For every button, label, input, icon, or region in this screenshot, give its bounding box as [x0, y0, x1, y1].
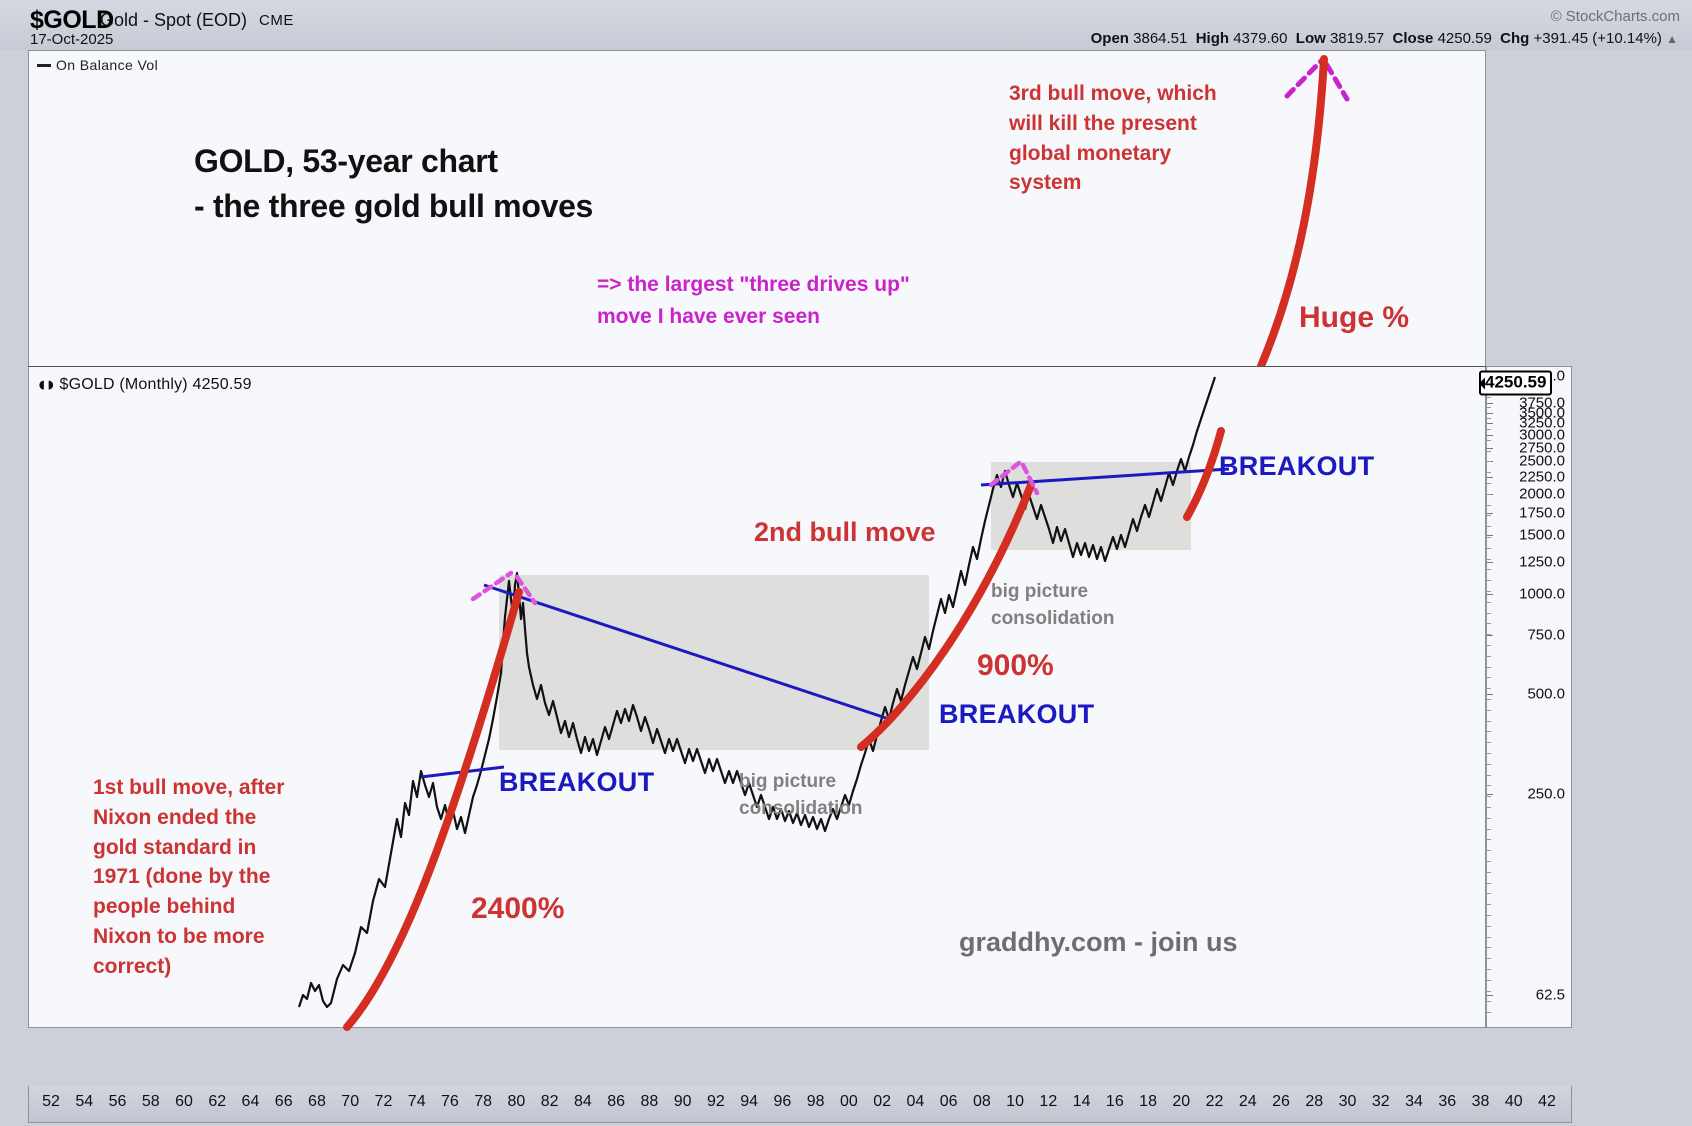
quote-date: 17-Oct-2025 — [30, 31, 113, 48]
y-axis-minor-tick — [1487, 494, 1491, 495]
x-axis-tick-label: 10 — [1006, 1093, 1024, 1111]
x-axis-tick-label: 06 — [940, 1093, 958, 1111]
x-axis-tick-label: 16 — [1106, 1093, 1124, 1111]
x-axis-tick-label: 80 — [508, 1093, 526, 1111]
y-axis-minor-tick — [1487, 613, 1491, 614]
x-axis-tick-label: 58 — [142, 1093, 160, 1111]
y-axis-minor-tick — [1487, 785, 1491, 786]
low-label: Low — [1296, 30, 1326, 47]
y-axis-minor-tick — [1487, 807, 1491, 808]
y-axis-tick-label: 1250.0 — [1519, 553, 1565, 570]
x-axis-tick-label: 86 — [607, 1093, 625, 1111]
y-axis-tick-mark — [1487, 435, 1493, 436]
y-axis-tick-mark — [1487, 423, 1493, 424]
x-axis-tick-label: 40 — [1505, 1093, 1523, 1111]
y-axis-minor-tick — [1487, 634, 1491, 635]
price-y-axis: 4250.59 4500.03750.03500.03250.03000.027… — [1486, 366, 1572, 1028]
y-axis-tick-mark — [1487, 448, 1493, 449]
x-axis-tick-label: 64 — [242, 1093, 260, 1111]
price-panel: ◖◗$GOLD (Monthly) 4250.59 BREAKOUT — [28, 366, 1486, 1028]
x-axis-tick-label: 78 — [474, 1093, 492, 1111]
consolidation-label-2: big picture consolidation — [991, 579, 1115, 632]
x-axis-tick-label: 66 — [275, 1093, 293, 1111]
x-axis-tick-label: 74 — [408, 1093, 426, 1111]
y-axis-minor-tick — [1487, 796, 1491, 797]
percent-900-label: 900% — [977, 649, 1054, 683]
y-axis-minor-tick — [1487, 980, 1491, 981]
x-axis-tick-label: 32 — [1372, 1093, 1390, 1111]
y-axis-minor-tick — [1487, 1012, 1491, 1013]
y-axis-minor-tick — [1487, 710, 1491, 711]
x-axis-tick-label: 56 — [109, 1093, 127, 1111]
chg-value: +391.45 (+10.14%) — [1534, 30, 1662, 47]
magenta-drive-down-stroke-1 — [1327, 65, 1347, 99]
x-axis-tick-label: 08 — [973, 1093, 991, 1111]
y-axis-tick-mark — [1487, 635, 1493, 636]
second-bull-move-label: 2nd bull move — [754, 517, 936, 548]
x-axis-tick-label: 68 — [308, 1093, 326, 1111]
y-axis-minor-tick — [1487, 839, 1491, 840]
y-axis-minor-tick — [1487, 580, 1491, 581]
y-axis-minor-tick — [1487, 569, 1491, 570]
y-axis-minor-tick — [1487, 645, 1491, 646]
symbol-description: Gold - Spot (EOD) — [100, 10, 247, 31]
exchange-label: CME — [259, 12, 294, 29]
y-axis-minor-tick — [1487, 451, 1491, 452]
y-axis-minor-tick — [1487, 407, 1491, 408]
y-axis-minor-tick — [1487, 559, 1491, 560]
y-axis-tick-label: 2250.0 — [1519, 468, 1565, 485]
y-axis-minor-tick — [1487, 872, 1491, 873]
y-axis-minor-tick — [1487, 591, 1491, 592]
obv-panel: On Balance Vol GOLD, 53-year chart - the… — [28, 50, 1486, 367]
y-axis-tick-mark — [1487, 513, 1493, 514]
y-axis-minor-tick — [1487, 472, 1491, 473]
y-axis-minor-tick — [1487, 926, 1491, 927]
x-axis-tick-label: 54 — [75, 1093, 93, 1111]
open-label: Open — [1091, 30, 1129, 47]
y-axis-minor-tick — [1487, 904, 1491, 905]
x-axis-tick-label: 52 — [42, 1093, 60, 1111]
y-axis-minor-tick — [1487, 461, 1491, 462]
x-axis-tick-label: 02 — [873, 1093, 891, 1111]
y-axis-tick-label: 1500.0 — [1519, 527, 1565, 544]
y-axis-minor-tick — [1487, 731, 1491, 732]
percent-2400-label: 2400% — [471, 892, 564, 926]
breakout-label-1: BREAKOUT — [499, 767, 654, 798]
graddhy-watermark: graddhy.com - join us — [959, 927, 1238, 958]
y-axis-minor-tick — [1487, 947, 1491, 948]
low-value: 3819.57 — [1330, 30, 1384, 47]
y-axis-minor-tick — [1487, 753, 1491, 754]
y-axis-minor-tick — [1487, 505, 1491, 506]
y-axis-tick-mark — [1487, 694, 1493, 695]
y-axis-minor-tick — [1487, 656, 1491, 657]
y-axis-minor-tick — [1487, 699, 1491, 700]
y-axis-minor-tick — [1487, 688, 1491, 689]
x-axis-tick-label: 36 — [1438, 1093, 1456, 1111]
y-axis-minor-tick — [1487, 958, 1491, 959]
close-label: Close — [1393, 30, 1434, 47]
y-axis-minor-tick — [1487, 829, 1491, 830]
y-axis-minor-tick — [1487, 537, 1491, 538]
x-axis-tick-label: 00 — [840, 1093, 858, 1111]
obv-panel-markup-layer — [29, 51, 1485, 366]
y-axis-minor-tick — [1487, 548, 1491, 549]
x-axis-tick-label: 22 — [1206, 1093, 1224, 1111]
x-axis-tick-label: 18 — [1139, 1093, 1157, 1111]
consolidation-label-1: big picture consolidation — [739, 769, 863, 822]
stockcharts-screenshot: $GOLD Gold - Spot (EOD) CME 17-Oct-2025 … — [0, 0, 1692, 1126]
y-axis-tick-label: 1000.0 — [1519, 585, 1565, 602]
x-axis-tick-label: 26 — [1272, 1093, 1290, 1111]
y-axis-minor-tick — [1487, 775, 1491, 776]
x-axis-tick-label: 84 — [574, 1093, 592, 1111]
chg-label: Chg — [1500, 30, 1529, 47]
x-axis-tick-label: 42 — [1538, 1093, 1556, 1111]
y-axis-minor-tick — [1487, 991, 1491, 992]
y-axis-minor-tick — [1487, 893, 1491, 894]
huge-percent-label: Huge % — [1299, 301, 1409, 335]
y-axis-minor-tick — [1487, 526, 1491, 527]
y-axis-tick-label: 500.0 — [1527, 686, 1565, 703]
y-axis-minor-tick — [1487, 937, 1491, 938]
y-axis-minor-tick — [1487, 397, 1491, 398]
x-axis-tick-label: 30 — [1339, 1093, 1357, 1111]
y-axis-tick-mark — [1487, 413, 1493, 414]
open-value: 3864.51 — [1133, 30, 1187, 47]
y-axis-minor-tick — [1487, 883, 1491, 884]
y-axis-tick-label: 1750.0 — [1519, 504, 1565, 521]
x-axis-tick-label: 60 — [175, 1093, 193, 1111]
y-axis-minor-tick — [1487, 440, 1491, 441]
y-axis-minor-tick — [1487, 667, 1491, 668]
y-axis-minor-tick — [1487, 483, 1491, 484]
up-triangle-icon: ▲ — [1666, 32, 1678, 46]
x-axis-tick-label: 94 — [740, 1093, 758, 1111]
third-bull-move-curve-lower — [1187, 431, 1221, 517]
y-axis-minor-tick — [1487, 818, 1491, 819]
y-axis-tick-mark — [1487, 562, 1493, 563]
x-axis-tick-label: 98 — [807, 1093, 825, 1111]
x-axis-tick-label: 20 — [1172, 1093, 1190, 1111]
y-axis-minor-tick — [1487, 764, 1491, 765]
breakout-label-3: BREAKOUT — [1219, 451, 1374, 482]
y-axis-tick-mark — [1487, 794, 1493, 795]
x-axis-tick-label: 82 — [541, 1093, 559, 1111]
y-axis-minor-tick — [1487, 861, 1491, 862]
y-axis-tick-mark — [1487, 995, 1493, 996]
y-axis-minor-tick — [1487, 677, 1491, 678]
current-price-flag: 4250.59 — [1479, 371, 1552, 396]
x-axis-tick-label: 62 — [208, 1093, 226, 1111]
y-axis-minor-tick — [1487, 742, 1491, 743]
x-axis-tick-label: 96 — [773, 1093, 791, 1111]
y-axis-minor-tick — [1487, 915, 1491, 916]
close-value: 4250.59 — [1438, 30, 1492, 47]
stockcharts-brand: © StockCharts.com — [1551, 8, 1680, 25]
x-axis-tick-label: 72 — [375, 1093, 393, 1111]
y-axis-minor-tick — [1487, 515, 1491, 516]
y-axis-tick-label: 250.0 — [1527, 786, 1565, 803]
y-axis-minor-tick — [1487, 969, 1491, 970]
y-axis-tick-mark — [1487, 403, 1493, 404]
x-axis-tick-label: 24 — [1239, 1093, 1257, 1111]
x-axis-tick-label: 04 — [906, 1093, 924, 1111]
ohlc-quote-bar: Open 3864.51 High 4379.60 Low 3819.57 Cl… — [1091, 30, 1678, 47]
x-axis-tick-label: 28 — [1305, 1093, 1323, 1111]
breakout-label-2: BREAKOUT — [939, 699, 1094, 730]
x-axis-tick-label: 14 — [1073, 1093, 1091, 1111]
chart-header: $GOLD Gold - Spot (EOD) CME 17-Oct-2025 … — [0, 0, 1692, 50]
x-axis-tick-label: 92 — [707, 1093, 725, 1111]
first-bull-move-curve — [347, 592, 519, 1027]
y-axis-tick-mark — [1487, 477, 1493, 478]
x-axis-tick-label: 90 — [674, 1093, 692, 1111]
first-bull-move-note: 1st bull move, after Nixon ended the gol… — [93, 773, 284, 982]
magenta-drive-up-stroke-1 — [1287, 61, 1321, 96]
y-axis-minor-tick — [1487, 850, 1491, 851]
y-axis-minor-tick — [1487, 429, 1491, 430]
high-value: 4379.60 — [1233, 30, 1287, 47]
x-axis-tick-label: 88 — [640, 1093, 658, 1111]
y-axis-minor-tick — [1487, 721, 1491, 722]
x-axis-tick-label: 12 — [1039, 1093, 1057, 1111]
x-axis-tick-label: 34 — [1405, 1093, 1423, 1111]
y-axis-minor-tick — [1487, 418, 1491, 419]
x-axis-tick-label: 38 — [1472, 1093, 1490, 1111]
x-axis-tick-label: 70 — [341, 1093, 359, 1111]
y-axis-minor-tick — [1487, 602, 1491, 603]
y-axis-minor-tick — [1487, 623, 1491, 624]
y-axis-tick-label: 62.5 — [1536, 986, 1565, 1003]
y-axis-minor-tick — [1487, 1001, 1491, 1002]
x-axis-tick-label: 76 — [441, 1093, 459, 1111]
x-axis: 5254565860626466687072747678808284868890… — [28, 1086, 1572, 1123]
y-axis-tick-label: 2000.0 — [1519, 485, 1565, 502]
panel-divider — [28, 366, 1570, 367]
high-label: High — [1196, 30, 1229, 47]
y-axis-tick-mark — [1487, 594, 1493, 595]
y-axis-tick-label: 750.0 — [1527, 627, 1565, 644]
